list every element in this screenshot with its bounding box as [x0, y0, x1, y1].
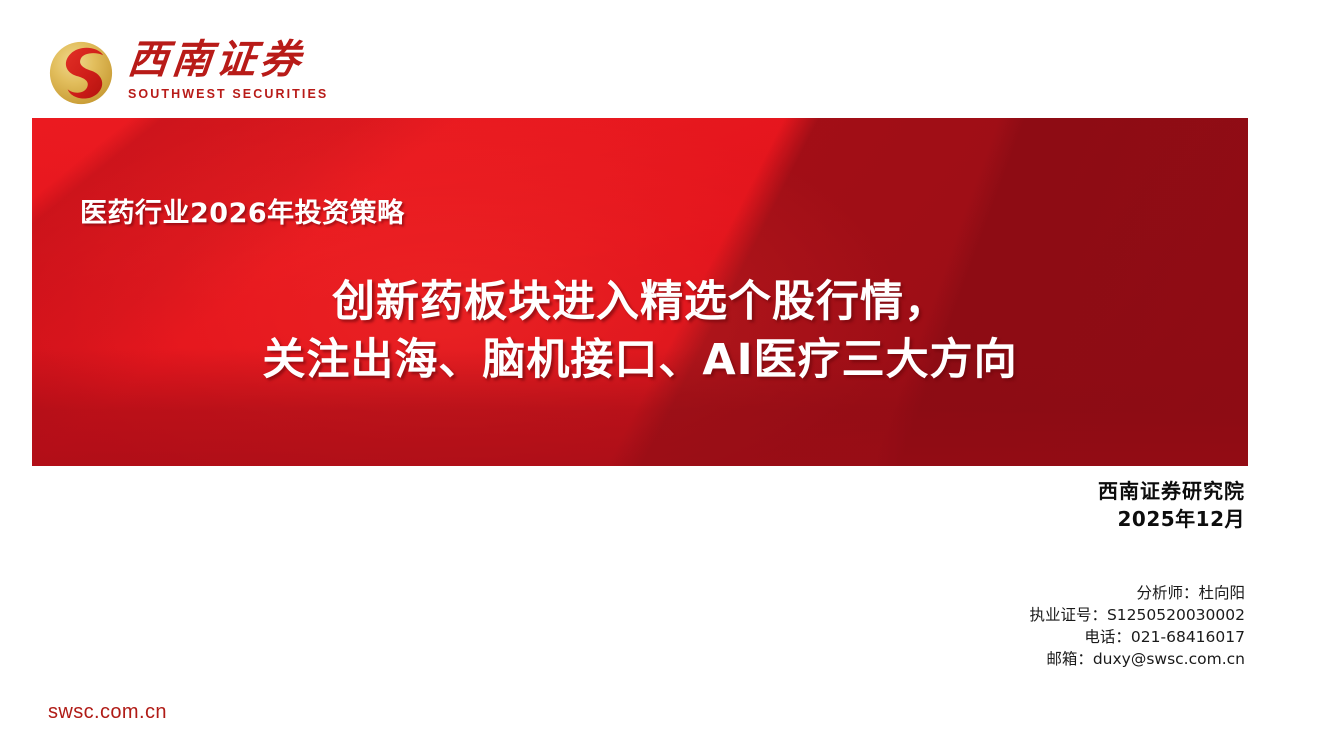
title-banner: 医药行业2026年投资策略 创新药板块进入精选个股行情， 关注出海、脑机接口、A… [32, 118, 1248, 466]
analyst-email-line: 邮箱：duxy@swsc.com.cn [1029, 648, 1245, 670]
headline-line: 创新药板块进入精选个股行情， [32, 273, 1248, 331]
institution-block: 西南证券研究院 2025年12月 [1098, 478, 1245, 533]
logo-english-wordmark: SOUTHWEST SECURITIES [128, 87, 328, 101]
report-subtitle: 医药行业2026年投资策略 [80, 191, 405, 230]
report-date: 2025年12月 [1098, 505, 1245, 533]
company-logo: 西南证券 SOUTHWEST SECURITIES [44, 34, 328, 110]
analyst-license-line: 执业证号：S1250520030002 [1029, 604, 1245, 626]
footer-website-url[interactable]: swsc.com.cn [48, 701, 167, 724]
logo-wordmark-group: 西南证券 SOUTHWEST SECURITIES [128, 34, 328, 101]
report-headline: 创新药板块进入精选个股行情， 关注出海、脑机接口、AI医疗三大方向 [32, 273, 1248, 389]
analyst-name-line: 分析师：杜向阳 [1029, 582, 1245, 604]
institution-name: 西南证券研究院 [1098, 478, 1245, 505]
headline-line: 关注出海、脑机接口、AI医疗三大方向 [32, 331, 1248, 389]
banner-content: 医药行业2026年投资策略 创新药板块进入精选个股行情， 关注出海、脑机接口、A… [32, 118, 1248, 466]
logo-chinese-wordmark: 西南证券 [126, 38, 331, 82]
analyst-phone-line: 电话：021-68416017 [1029, 626, 1245, 648]
swsc-circle-swirl-logo-icon [44, 36, 118, 110]
header-bar: 西南证券 SOUTHWEST SECURITIES [0, 0, 1333, 118]
analyst-contact-block: 分析师：杜向阳 执业证号：S1250520030002 电话：021-68416… [1029, 582, 1245, 670]
